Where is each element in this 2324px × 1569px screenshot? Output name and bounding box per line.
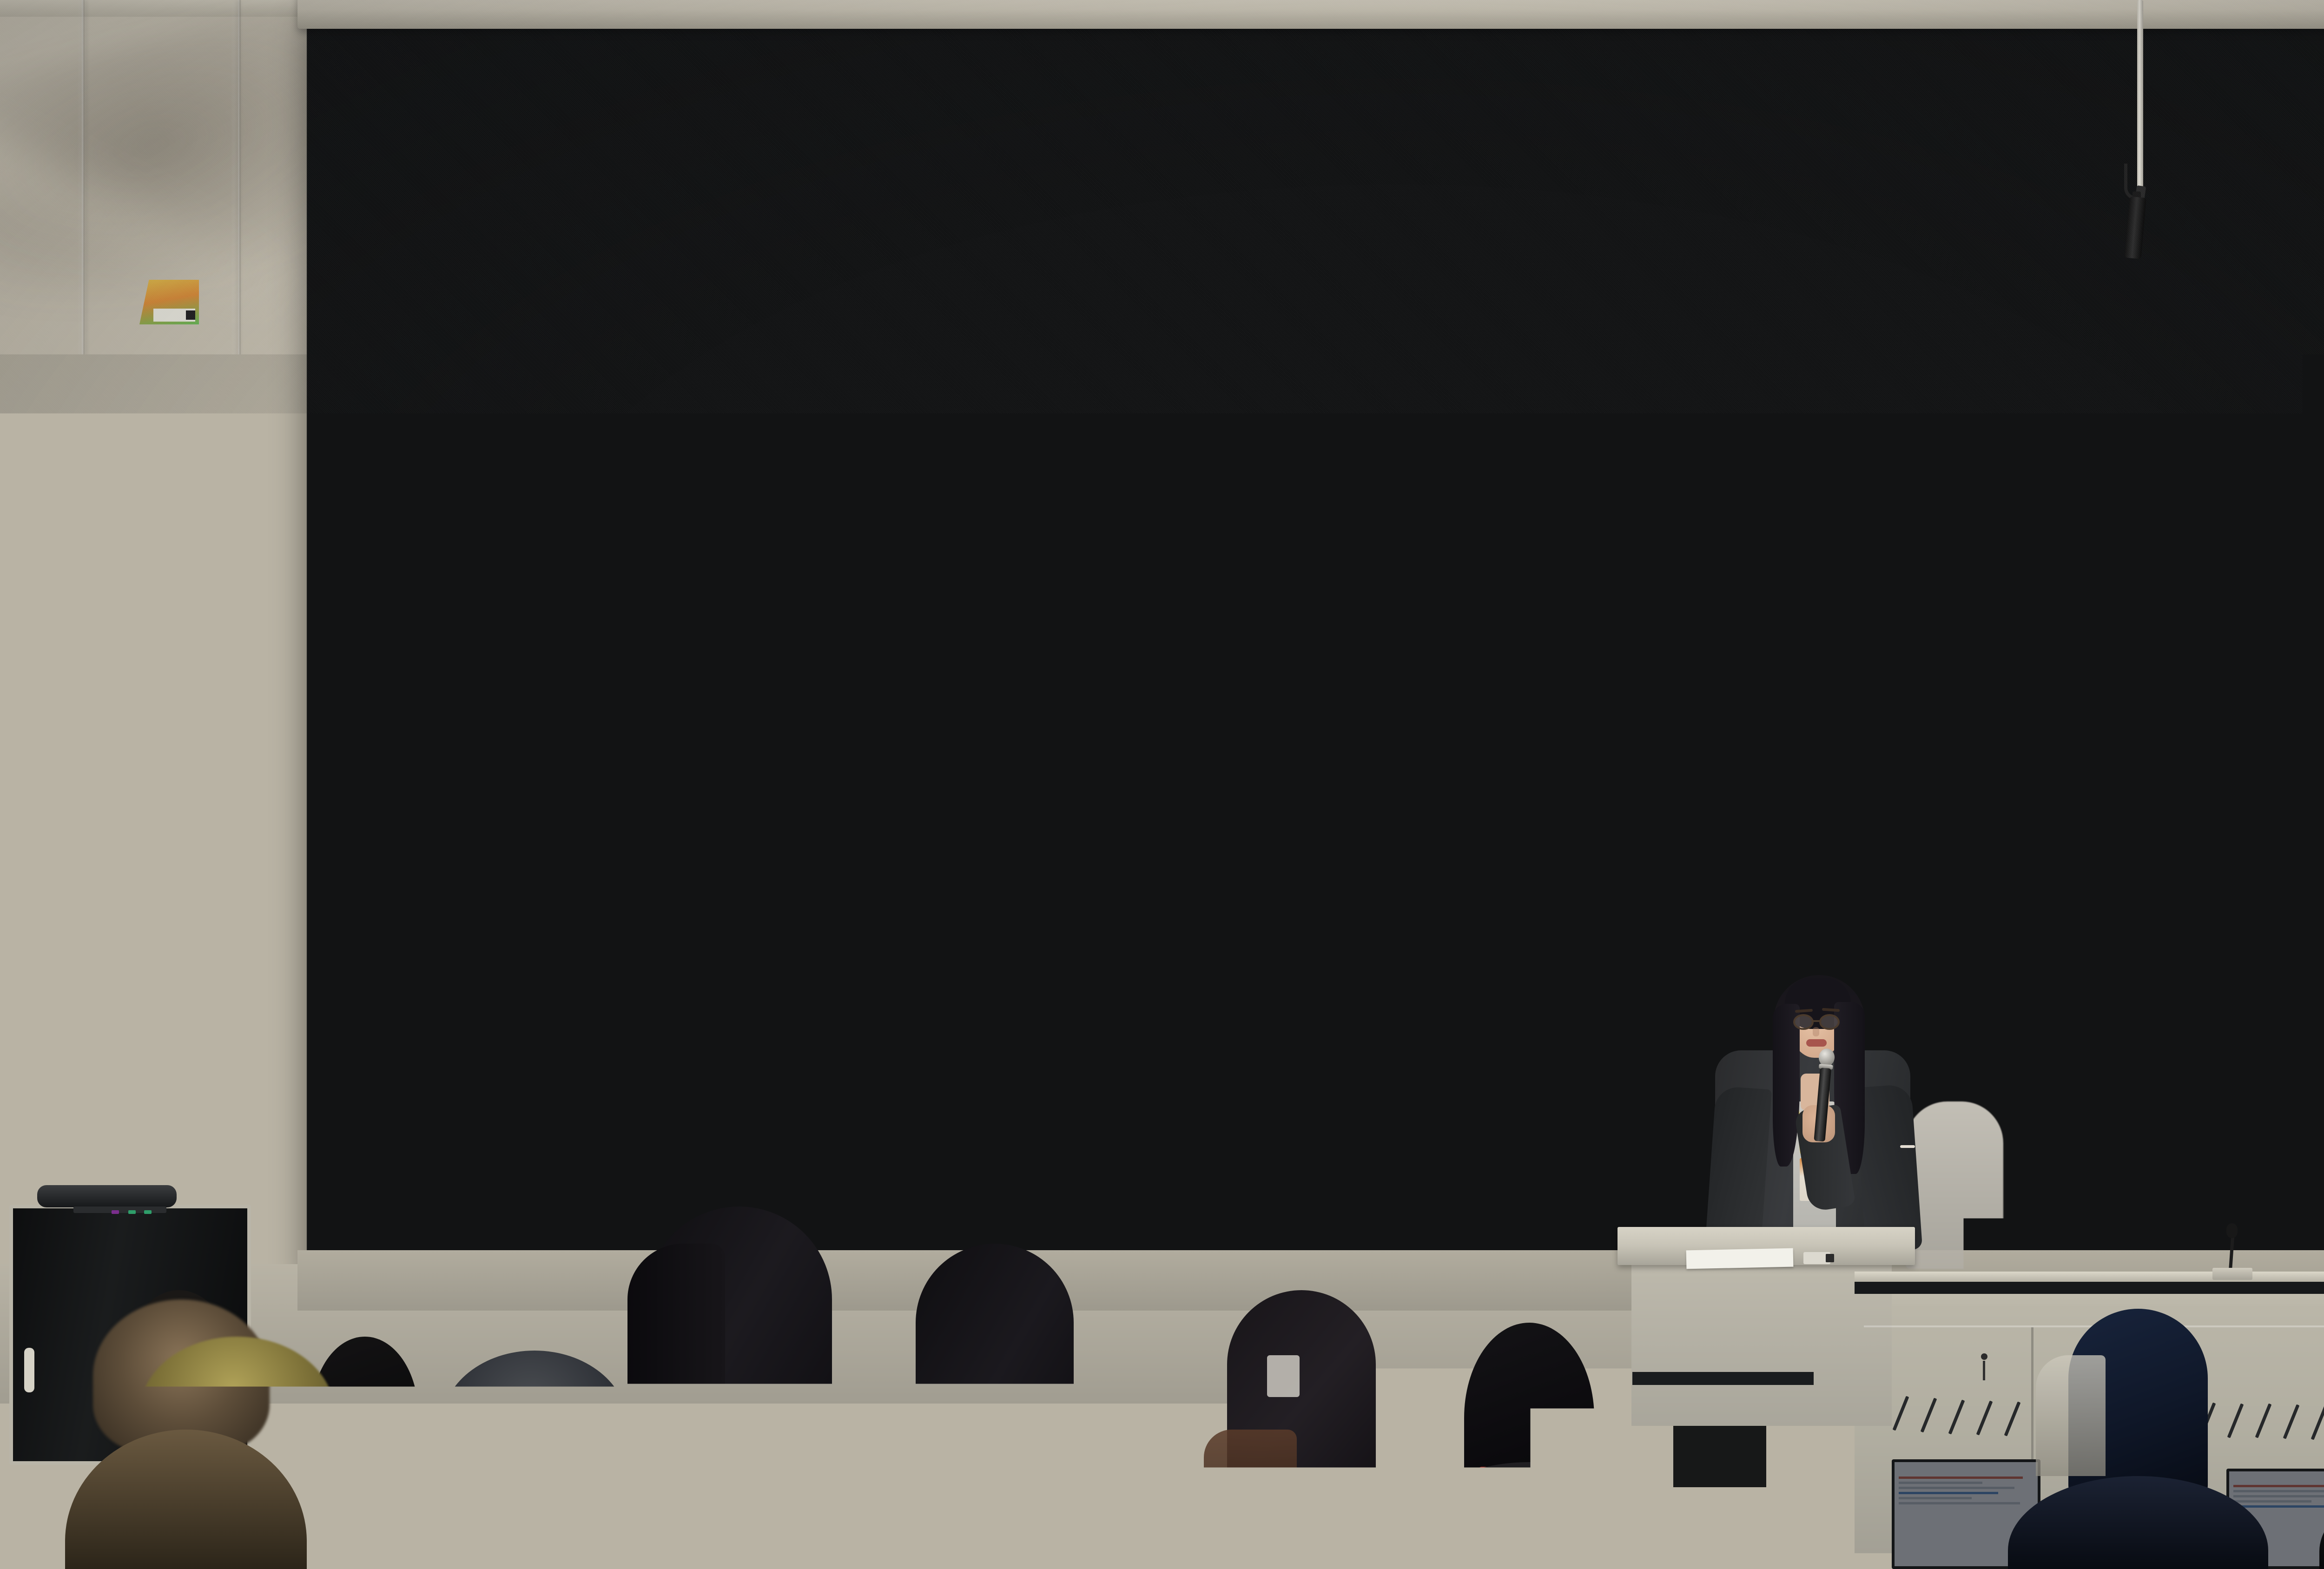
cabinet-lock-icon[interactable] [1981, 1353, 1987, 1360]
projected-slide: 中国共青团 青马工程 北海艺术设计学院 BEIHAI UNIVERSITY OF… [332, 103, 2324, 1277]
poster-header: 北海艺术设计学院 [0, 747, 76, 771]
poster-body-text [0, 790, 78, 906]
audience-member [2315, 1327, 2324, 1569]
audience-hair-strand [627, 1244, 725, 1569]
rack-led-icon [128, 1210, 136, 1214]
screenshot-root: 中国共青团 青马工程 北海艺术设计学院 BEIHAI UNIVERSITY OF… [0, 0, 2324, 1569]
light-switch-plate[interactable] [116, 1069, 153, 1096]
audience-member [874, 1244, 1116, 1569]
hair-clip-icon [1267, 1355, 1300, 1397]
lectern [1618, 1227, 1915, 1422]
lens-left [1793, 1014, 1814, 1030]
poster-logo-icon [0, 753, 4, 764]
lectern-body [1631, 1263, 1892, 1426]
audience-shoulders [2319, 1481, 2324, 1569]
cabinet-keyhole[interactable] [1983, 1361, 1985, 1380]
energy-label-barcode [186, 310, 195, 320]
desk-top-lip [1855, 1272, 2324, 1282]
light-switch[interactable] [123, 1075, 146, 1090]
audience-member [1399, 1309, 1659, 1569]
audience-shoulders [2008, 1476, 2268, 1569]
lens-right [1819, 1014, 1840, 1030]
poster-heading: 学校学生行为准则 [0, 770, 76, 790]
poster-header-text: 北海艺术设计学院 [7, 755, 55, 763]
audience-light-hood [2036, 1355, 2106, 1476]
speech-papers[interactable] [1686, 1248, 1794, 1269]
audience-member [1176, 1290, 1418, 1569]
audience-long-hair [916, 1244, 1074, 1569]
ptz-camera-left-icon [19, 627, 102, 682]
audience-hood [139, 1337, 335, 1490]
cabinet-handle[interactable] [24, 1348, 34, 1392]
glasses-bridge [1813, 1020, 1821, 1022]
speaker-person [1715, 934, 1910, 1259]
audience-member [590, 1206, 878, 1569]
audience-shoulders [1399, 1462, 1659, 1569]
rack-led-icon [112, 1210, 119, 1214]
lectern-rail [1632, 1372, 1814, 1385]
mic-capsule [2226, 1223, 2238, 1238]
audience-shoulders [93, 1476, 400, 1569]
projector-screen-case [297, 0, 2324, 29]
rack-top-device [37, 1185, 177, 1207]
audience-shoulders [1204, 1430, 1297, 1569]
rack-top-device-strip [73, 1206, 166, 1213]
speaker-mouth [1806, 1039, 1827, 1047]
speaker-teeth [1900, 1145, 1915, 1148]
wall-poster: 北海艺术设计学院 学校学生行为准则 [0, 747, 79, 947]
rack-led-icon [144, 1210, 152, 1214]
speaker-nose [1813, 1027, 1819, 1036]
audience-member [84, 1346, 409, 1569]
outlet-socket[interactable] [283, 1101, 296, 1112]
mic-base [2212, 1268, 2252, 1280]
audience-head [1464, 1323, 1594, 1476]
camera-led-icon [35, 662, 41, 666]
slide-vignette [332, 103, 2324, 1277]
audience-member [2008, 1309, 2268, 1569]
desk-shadow-band [1855, 1282, 2324, 1294]
remote-control-button[interactable] [1826, 1254, 1834, 1262]
wall-outlet[interactable] [279, 1097, 300, 1116]
